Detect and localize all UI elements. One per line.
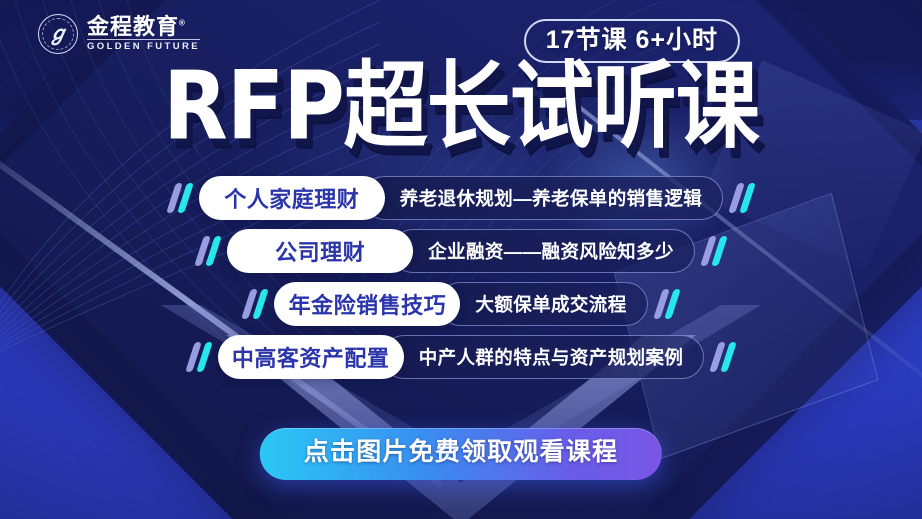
course-topic-pill[interactable]: 中产人群的特点与资产规划案例 — [382, 335, 705, 379]
logo-monogram-letter: ℊ — [48, 24, 68, 44]
page-title-text: RFP超长试听课 — [163, 59, 759, 153]
cta-button[interactable]: 点击图片免费领取观看课程 — [260, 428, 662, 480]
course-topic-pill[interactable]: 企业融资——融资风险知多少 — [391, 229, 695, 273]
slash-marks-left-icon — [171, 176, 189, 220]
course-topic-pill[interactable]: 养老退休规划—养老保单的销售逻辑 — [363, 176, 723, 220]
promo-poster[interactable]: ℊ 金程教育® GOLDEN FUTURE 17节课 6+小时 RFP超长试听课… — [0, 0, 922, 519]
list-item[interactable]: 公司理财 企业融资——融资风险知多少 — [0, 229, 922, 273]
slash-marks-left-icon — [246, 282, 264, 326]
brand-name-cn: 金程教育® — [87, 15, 200, 38]
course-category-pill[interactable]: 公司理财 — [227, 229, 413, 273]
course-list: 个人家庭理财 养老退休规划—养老保单的销售逻辑 公司理财 企业融资——融资风险知… — [0, 176, 922, 388]
registered-mark-icon: ® — [179, 19, 186, 28]
brand-name-cn-text: 金程教育 — [87, 14, 179, 39]
slash-marks-right-icon — [714, 335, 732, 379]
course-category-pill[interactable]: 年金险销售技巧 — [274, 282, 460, 326]
list-item[interactable]: 中高客资产配置 中产人群的特点与资产规划案例 — [0, 335, 922, 379]
page-title: RFP超长试听课 — [0, 64, 922, 148]
slash-marks-right-icon — [658, 282, 676, 326]
brand-logo-text: 金程教育® GOLDEN FUTURE — [87, 15, 200, 53]
slash-marks-left-icon — [190, 335, 208, 379]
course-category-pill[interactable]: 个人家庭理财 — [199, 176, 385, 220]
g-monogram-icon: ℊ — [38, 14, 78, 54]
course-topic-pill[interactable]: 大额保单成交流程 — [438, 282, 647, 326]
brand-logo[interactable]: ℊ 金程教育® GOLDEN FUTURE — [38, 14, 200, 54]
slash-marks-right-icon — [705, 229, 723, 273]
course-category-pill[interactable]: 中高客资产配置 — [218, 335, 404, 379]
list-item[interactable]: 个人家庭理财 养老退休规划—养老保单的销售逻辑 — [0, 176, 922, 220]
slash-marks-right-icon — [733, 176, 751, 220]
slash-marks-left-icon — [199, 229, 217, 273]
list-item[interactable]: 年金险销售技巧 大额保单成交流程 — [0, 282, 922, 326]
